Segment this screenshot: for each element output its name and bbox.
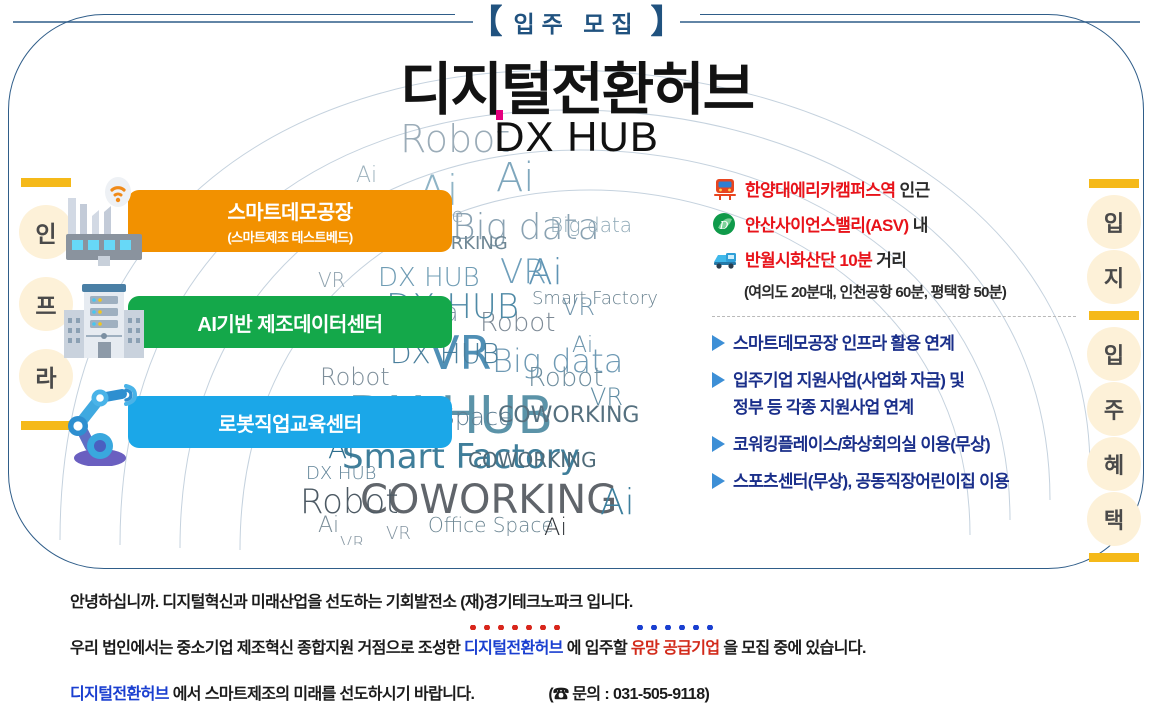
benefit-label: 스포츠센터(무상), 공동직장어린이집 이용 <box>733 469 1009 495</box>
location-row-asv: D 안산사이언스밸리(ASV) 내 <box>712 211 1082 236</box>
footer-line-2: 우리 법인에서는 중소기업 제조혁신 종합지원 거점으로 조성한 디지털전환허브… <box>70 634 1100 658</box>
word-cloud-word: VR <box>590 385 623 409</box>
truck-icon <box>712 247 738 271</box>
header: 【 입주 모집 】 <box>0 0 1153 44</box>
logo-dot-icon <box>496 110 503 120</box>
rail-bar-2 <box>1089 311 1139 320</box>
emph-supplier: 유망 공급기업 <box>631 634 720 658</box>
word-cloud-word: Ai <box>544 515 567 539</box>
word-cloud-word: Ai <box>528 255 563 291</box>
infra-label-main: 로봇직업교육센터 <box>218 408 361 437</box>
bracket-right-icon: 】 <box>651 5 684 38</box>
location-row-train: 한양대에리카캠퍼스역 인근 <box>712 176 1082 201</box>
train-icon <box>712 177 738 201</box>
rail-char-ju: 주 <box>1087 382 1141 436</box>
svg-text:D: D <box>719 219 729 232</box>
infra-pill-data-center[interactable]: AI기반 제조데이터센터 <box>128 296 452 348</box>
word-cloud-word: VR <box>386 525 411 543</box>
dx-hub-logo: DX HUB <box>0 113 1153 161</box>
word-cloud-word: Ai <box>318 515 339 537</box>
infra-pill-robot-center[interactable]: 로봇직업교육센터 <box>128 396 452 448</box>
footer-line-3: 디지털전환허브 에서 스마트제조의 미래를 선도하시기 바랍니다.(☎ 문의 :… <box>70 680 1100 704</box>
benefit-label: 입주기업 지원사업(사업화 자금) 및 정부 등 각종 지원사업 연계 <box>733 368 964 421</box>
infra-item-robot-center[interactable]: 로봇직업교육센터 <box>60 370 460 470</box>
location-label-asv: 안산사이언스밸리(ASV) 내 <box>745 211 928 236</box>
infra-item-smart-factory[interactable]: 스마트데모공장 (스마트제조 테스트베드) <box>60 170 460 270</box>
triangle-bullet-icon <box>712 335 725 351</box>
benefit-item: 스마트데모공장 인프라 활용 연계 <box>712 331 1082 357</box>
rail-char-ip1: 입 <box>1087 195 1141 249</box>
bracket-left-icon: 【 <box>469 5 502 38</box>
benefit-item: 입주기업 지원사업(사업화 자금) 및 정부 등 각종 지원사업 연계 <box>712 368 1082 421</box>
word-cloud-word: COWORKING <box>468 450 597 470</box>
dx-hub-logo-text: DX HUB <box>494 113 659 160</box>
word-cloud-word: VR <box>340 535 365 545</box>
word-cloud-word: Ai <box>572 335 593 357</box>
location-label-truck: 반월시화산단 10분 거리 <box>745 246 906 271</box>
info-panel: 한양대에리카캠퍼스역 인근 D 안산사이언스밸리(ASV) 내 반월시화산단 1… <box>712 176 1082 507</box>
rail-char-taek: 택 <box>1087 492 1141 546</box>
header-rule-left <box>13 20 473 24</box>
infra-label-sub: (스마트제조 테스트베드) <box>227 227 352 246</box>
infra-label-main: AI기반 제조데이터센터 <box>197 308 382 337</box>
rail-char-ji: 지 <box>1087 250 1141 304</box>
header-rule-right <box>680 20 1140 24</box>
word-cloud-word: Office Space <box>428 515 554 535</box>
robot-arm-icon <box>60 370 152 466</box>
benefit-item: 스포츠센터(무상), 공동직장어린이집 이용 <box>712 469 1082 495</box>
infra-pill-smart-factory[interactable]: 스마트데모공장 (스마트제조 테스트베드) <box>128 190 452 252</box>
word-cloud-word: Robot <box>300 485 399 519</box>
footer-contact: (☎ 문의 : 031-505-9118) <box>548 686 709 703</box>
infra-list: 스마트데모공장 (스마트제조 테스트베드) <box>60 170 460 470</box>
location-row-truck: 반월시화산단 10분 거리 <box>712 246 1082 271</box>
footer-text: 안녕하십니까. 디지털혁신과 미래산업을 선도하는 기회발전소 (재)경기테크노… <box>70 588 1100 726</box>
smart-factory-icon <box>60 170 152 266</box>
triangle-bullet-icon <box>712 372 725 388</box>
benefit-label: 코워킹플레이스/화상회의실 이용(무상) <box>733 432 990 458</box>
benefit-label: 스마트데모공장 인프라 활용 연계 <box>733 331 954 357</box>
rail-location-benefits: 입 지 입 주 혜 택 <box>1078 172 1150 569</box>
benefit-item: 코워킹플레이스/화상회의실 이용(무상) <box>712 432 1082 458</box>
triangle-bullet-icon <box>712 436 725 452</box>
word-cloud-word: Ai <box>496 158 534 198</box>
asv-logo-icon: D <box>712 212 738 236</box>
poster-root: 【 입주 모집 】 DX HUBVRCOWORKINGSmart Factory… <box>0 0 1153 719</box>
data-center-icon <box>60 270 152 366</box>
header-label: 입주 모집 <box>504 5 648 39</box>
triangle-bullet-icon <box>712 473 725 489</box>
footer-line-1: 안녕하십니까. 디지털혁신과 미래산업을 선도하는 기회발전소 (재)경기테크노… <box>70 588 1100 612</box>
location-label-train: 한양대에리카캠퍼스역 인근 <box>745 176 930 201</box>
rail-bar-3 <box>1089 553 1139 562</box>
benefit-label-line2: 정부 등 각종 지원사업 연계 <box>733 395 964 421</box>
location-note: (여의도 20분대, 인천공항 60분, 평택항 50분) <box>744 281 1082 302</box>
rail-char-ip2: 입 <box>1087 327 1141 381</box>
section-divider <box>712 316 1076 317</box>
rail-bar-1 <box>1089 179 1139 188</box>
word-cloud-word: Smart Factory <box>532 290 658 308</box>
infra-item-data-center[interactable]: AI기반 제조데이터센터 <box>60 270 460 370</box>
emph-dx-hub: 디지털전환허브 <box>464 634 563 658</box>
infra-label-main: 스마트데모공장 <box>227 196 352 225</box>
rail-char-hye: 혜 <box>1087 437 1141 491</box>
word-cloud-word: Ai <box>600 485 635 521</box>
footer-dx-hub: 디지털전환허브 <box>70 686 169 703</box>
word-cloud-word: Big data <box>550 215 632 235</box>
